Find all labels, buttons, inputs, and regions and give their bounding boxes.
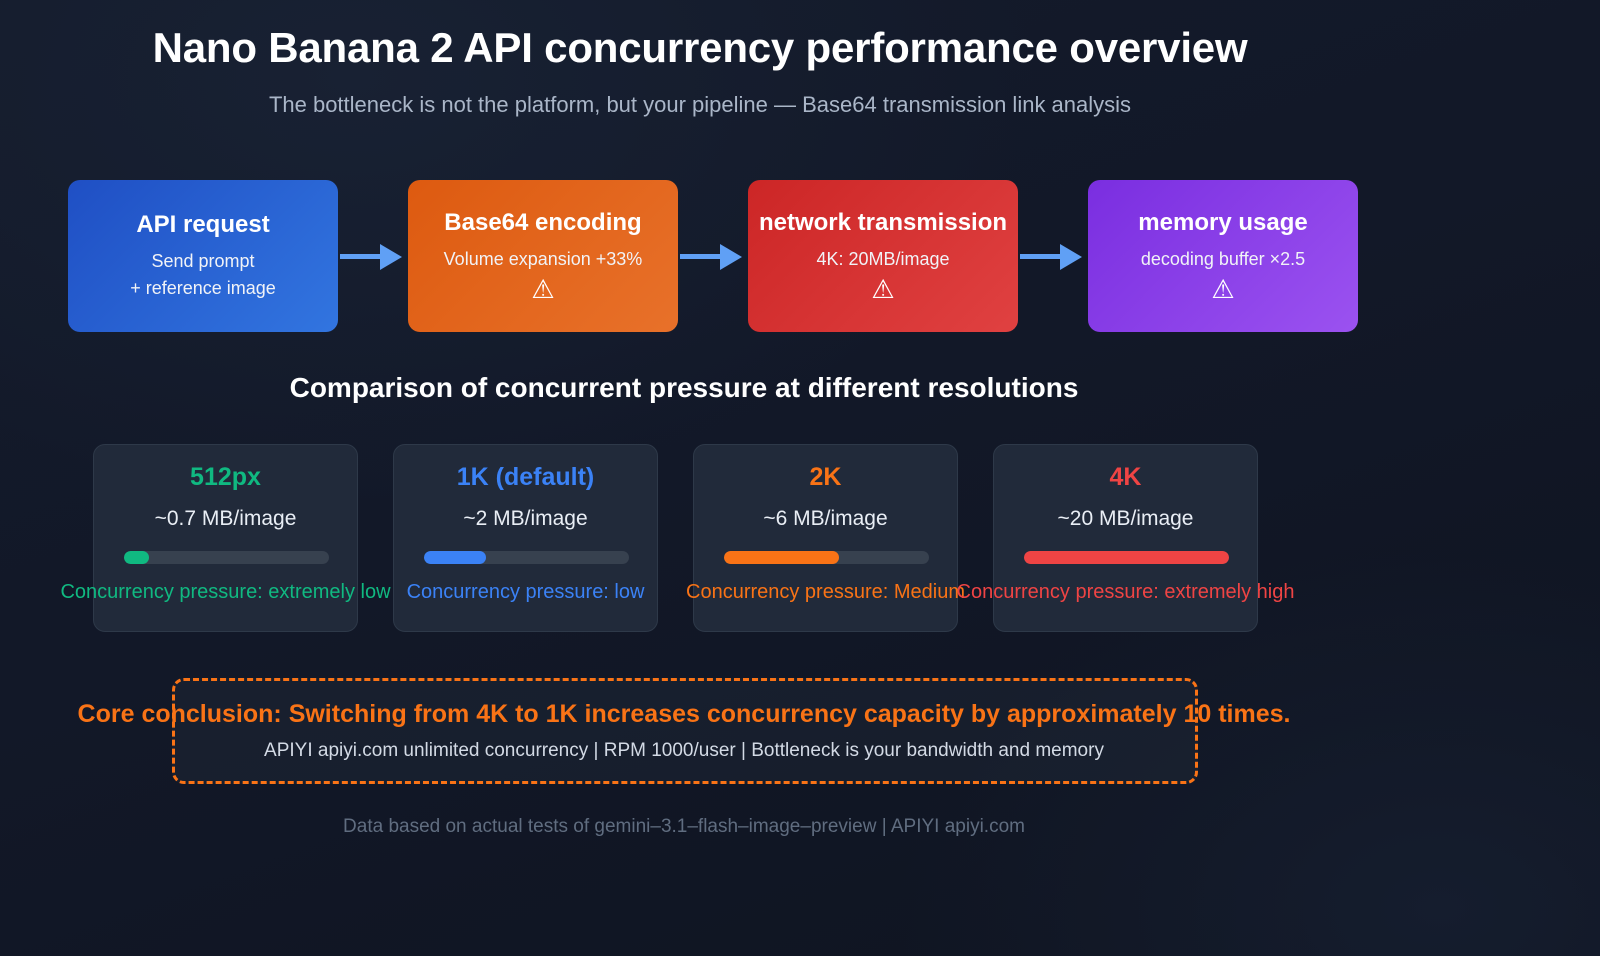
page-title: Nano Banana 2 API concurrency performanc…: [0, 24, 1400, 72]
resolution-card-1k: 1K (default) ~2 MB/image Concurrency pre…: [393, 444, 658, 632]
core-conclusion-text: Core conclusion: Switching from 4K to 1K…: [78, 700, 1291, 729]
flow-arrow-2-icon: [678, 241, 748, 271]
step-title: memory usage: [1138, 208, 1307, 238]
resolution-card-2k: 2K ~6 MB/image Concurrency pressure: Med…: [693, 444, 958, 632]
warning-triangle-icon: ⚠: [1211, 275, 1234, 304]
card-pressure-label: Concurrency pressure: low: [407, 581, 645, 604]
pressure-bar-track: [1024, 551, 1229, 564]
pressure-bar-fill: [1024, 551, 1229, 564]
flow-arrow-1-icon: [338, 241, 408, 271]
card-size-value: ~0.7 MB/image: [94, 507, 357, 531]
infographic-canvas: Nano Banana 2 API concurrency performanc…: [0, 0, 1600, 956]
pressure-bar-fill: [724, 551, 839, 564]
step-detail-line-1: Volume expansion +33%: [444, 246, 643, 273]
card-title: 512px: [94, 463, 357, 492]
pipeline-step-network-transmission: network transmission 4K: 20MB/image ⚠: [748, 180, 1018, 332]
step-detail-line-1: decoding buffer ×2.5: [1141, 246, 1305, 273]
core-conclusion-box: [172, 678, 1198, 784]
card-title: 4K: [994, 463, 1257, 492]
card-title: 2K: [694, 463, 957, 492]
flow-arrow-3-icon: [1018, 241, 1088, 271]
arrow-head: [1060, 244, 1082, 270]
step-title: API request: [136, 210, 269, 240]
pipeline-step-memory-usage: memory usage decoding buffer ×2.5 ⚠: [1088, 180, 1358, 332]
card-pressure-label: Concurrency pressure: extremely high: [957, 581, 1295, 604]
arrow-head: [720, 244, 742, 270]
card-size-value: ~6 MB/image: [694, 507, 957, 531]
step-title: network transmission: [759, 208, 1007, 238]
arrow-head: [380, 244, 402, 270]
pipeline-step-api-request: API request Send prompt + reference imag…: [68, 180, 338, 332]
pressure-bar-fill: [124, 551, 149, 564]
step-title: Base64 encoding: [444, 208, 641, 238]
card-title: 1K (default): [394, 463, 657, 492]
step-detail-line-1: 4K: 20MB/image: [816, 246, 949, 273]
step-detail-line-2: + reference image: [130, 275, 276, 302]
pipeline-flow: API request Send prompt + reference imag…: [68, 180, 1300, 332]
warning-triangle-icon: ⚠: [531, 275, 554, 304]
core-conclusion-subtext: APIYI apiyi.com unlimited concurrency | …: [264, 740, 1104, 762]
comparison-heading: Comparison of concurrent pressure at dif…: [0, 372, 1368, 404]
pressure-bar-track: [724, 551, 929, 564]
step-detail-line-1: Send prompt: [151, 248, 254, 275]
card-size-value: ~20 MB/image: [994, 507, 1257, 531]
pressure-bar-fill: [424, 551, 486, 564]
page-subtitle: The bottleneck is not the platform, but …: [0, 92, 1400, 118]
card-pressure-label: Concurrency pressure: Medium: [686, 581, 965, 604]
card-pressure-label: Concurrency pressure: extremely low: [60, 581, 390, 604]
pressure-bar-track: [424, 551, 629, 564]
pipeline-step-base64-encoding: Base64 encoding Volume expansion +33% ⚠: [408, 180, 678, 332]
warning-triangle-icon: ⚠: [871, 275, 894, 304]
resolution-card-512px: 512px ~0.7 MB/image Concurrency pressure…: [93, 444, 358, 632]
card-size-value: ~2 MB/image: [394, 507, 657, 531]
pressure-bar-track: [124, 551, 329, 564]
footer-note: Data based on actual tests of gemini–3.1…: [0, 816, 1368, 838]
resolution-card-4k: 4K ~20 MB/image Concurrency pressure: ex…: [993, 444, 1258, 632]
resolution-card-list: 512px ~0.7 MB/image Concurrency pressure…: [93, 444, 1258, 632]
